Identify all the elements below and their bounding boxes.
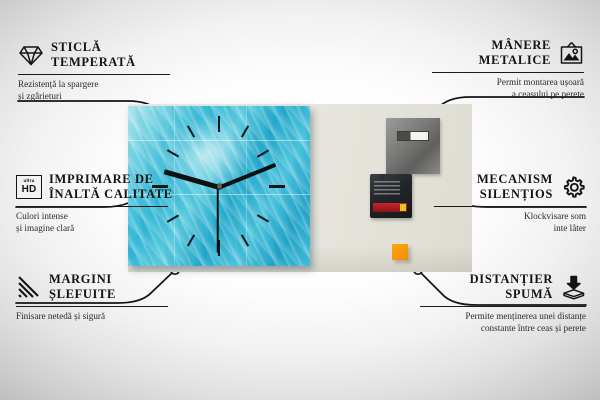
gear-icon: [560, 174, 586, 200]
callout-rule: [16, 206, 168, 207]
callout-subtitle: Klockvisare som inte låter: [414, 211, 586, 234]
callout-title-line1: MÂNERE: [479, 38, 551, 53]
callout-head: MÂNERE METALICE: [412, 38, 584, 68]
callout-title: MARGINI ȘLEFUITE: [49, 272, 116, 302]
callout-title-line2: TEMPERATĂ: [51, 55, 136, 70]
callout-title: STICLĂ TEMPERATĂ: [51, 40, 136, 70]
battery: [373, 203, 407, 212]
callout-subtitle-line2: a ceasului pe perete: [412, 89, 584, 101]
callout-subtitle-line1: Klockvisare som: [414, 211, 586, 223]
callout-tempered-glass: STICLĂ TEMPERATĂ Rezistență la spargere …: [18, 40, 188, 102]
callout-rule: [420, 306, 586, 307]
callout-head: MARGINI ȘLEFUITE: [16, 272, 196, 302]
keyhole-slot: [397, 131, 429, 141]
callout-title: MÂNERE METALICE: [479, 38, 551, 68]
infographic-canvas: STICLĂ TEMPERATĂ Rezistență la spargere …: [0, 0, 600, 400]
metal-wall-plate: [386, 118, 440, 174]
foam-spacer-piece: [392, 244, 408, 260]
callout-head: DISTANȚIER SPUMĂ: [406, 272, 586, 302]
callout-polished-edges: MARGINI ȘLEFUITE Finisare netedă și sigu…: [16, 272, 196, 323]
callout-head: STICLĂ TEMPERATĂ: [18, 40, 188, 70]
callout-subtitle-line1: Finisare netedă și sigură: [16, 311, 196, 323]
callout-title-line1: DISTANȚIER: [470, 272, 553, 287]
callout-subtitle-line1: Permite menținerea unei distanțe: [406, 311, 586, 323]
callout-rule: [16, 306, 168, 307]
tick-12: [218, 116, 220, 132]
callout-subtitle-line1: Permit montarea ușoară: [412, 77, 584, 89]
callout-subtitle-line1: Culori intense: [16, 211, 196, 223]
callout-title-line1: STICLĂ: [51, 40, 136, 55]
callout-title-line2: SILENȚIOS: [477, 187, 553, 202]
callout-head: MECANISM SILENȚIOS: [414, 172, 586, 202]
callout-title-line1: IMPRIMARE DE: [49, 172, 173, 187]
callout-subtitle: Permite menținerea unei distanțe constan…: [406, 311, 586, 334]
movement-hanger: [381, 174, 403, 181]
diamond-icon: [18, 42, 44, 68]
callout-head: ultra HD IMPRIMARE DE ÎNALTĂ CALITATE: [16, 172, 196, 202]
callout-print-quality: ultra HD IMPRIMARE DE ÎNALTĂ CALITATE Cu…: [16, 172, 196, 234]
callout-title-line1: MECANISM: [477, 172, 553, 187]
callout-rule: [434, 206, 586, 207]
glass-seam-h1: [128, 140, 310, 141]
arrow-down-onto-pad-icon: [560, 274, 586, 300]
callout-subtitle: Culori intense și imagine clară: [16, 211, 196, 234]
callout-subtitle-line2: și imagine clară: [16, 223, 196, 235]
callout-subtitle: Finisare netedă și sigură: [16, 311, 196, 323]
callout-title-line1: MARGINI: [49, 272, 116, 287]
callout-title: DISTANȚIER SPUMĂ: [470, 272, 553, 302]
callout-subtitle-line1: Rezistență la spargere: [18, 79, 188, 91]
callout-subtitle: Permit montarea ușoară a ceasului pe per…: [412, 77, 584, 100]
diagonal-stripes-icon: [16, 274, 42, 300]
callout-rule: [18, 74, 170, 75]
callout-rule: [432, 72, 584, 73]
tick-3: [269, 185, 285, 188]
callout-metal-handles: MÂNERE METALICE Permit montarea ușoară a…: [412, 38, 584, 100]
callout-title: IMPRIMARE DE ÎNALTĂ CALITATE: [49, 172, 173, 202]
clock-movement-box: [370, 174, 412, 218]
callout-subtitle-line2: și zgârieturi: [18, 91, 188, 103]
clock-center-hub: [217, 184, 222, 189]
callout-subtitle-line2: inte låter: [414, 223, 586, 235]
movement-label: [374, 181, 400, 197]
callout-subtitle: Rezistență la spargere și zgârieturi: [18, 79, 188, 102]
second-hand: [217, 187, 219, 253]
callout-foam-spacer: DISTANȚIER SPUMĂ Permite menținerea unei…: [406, 272, 586, 334]
picture-hanger-icon: [558, 40, 584, 66]
callout-silent-mechanism: MECANISM SILENȚIOS Klockvisare som inte …: [414, 172, 586, 234]
callout-title-line2: SPUMĂ: [470, 287, 553, 302]
ultra-hd-icon: ultra HD: [16, 174, 42, 200]
callout-title-line2: ÎNALTĂ CALITATE: [49, 187, 173, 202]
callout-title-line2: ȘLEFUITE: [49, 287, 116, 302]
callout-subtitle-line2: constante între ceas și perete: [406, 323, 586, 335]
callout-title-line2: METALICE: [479, 53, 551, 68]
callout-title: MECANISM SILENȚIOS: [477, 172, 553, 202]
